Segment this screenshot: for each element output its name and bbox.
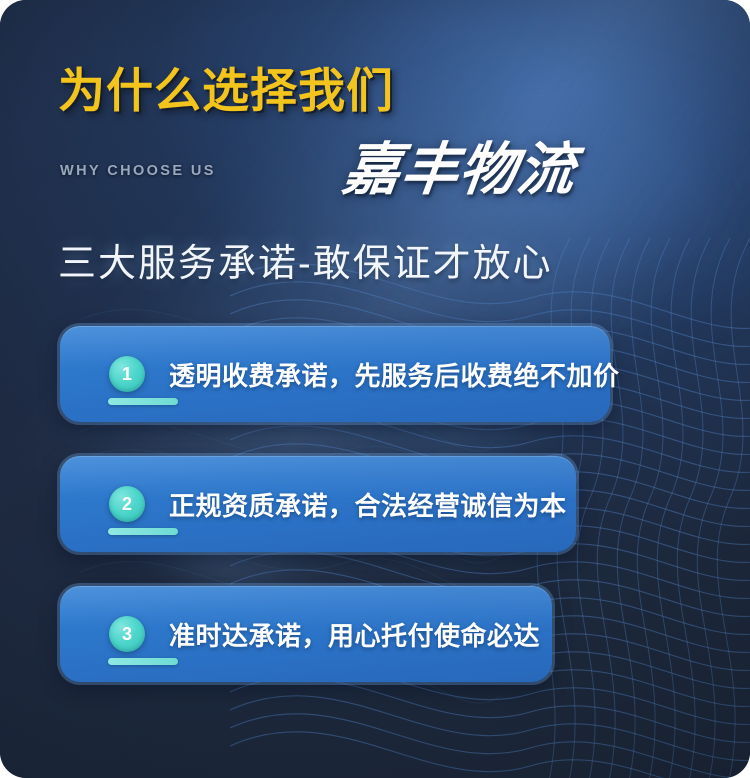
promise-number-badge: 2 (109, 486, 145, 522)
page-title: 为什么选择我们 (58, 52, 394, 121)
promise-card[interactable]: 2 正规资质承诺，合法经营诚信为本 (60, 456, 576, 552)
underline-accent (108, 658, 178, 665)
banner-content: 为什么选择我们 WHY CHOOSE US 嘉丰物流 三大服务承诺-敢保证才放心… (0, 0, 750, 778)
promo-banner: 为什么选择我们 WHY CHOOSE US 嘉丰物流 三大服务承诺-敢保证才放心… (0, 0, 750, 778)
promise-text: 准时达承诺，用心托付使命必达 (169, 616, 540, 653)
promise-number-badge: 1 (109, 356, 145, 392)
promise-number-badge: 3 (109, 616, 145, 652)
underline-accent (108, 528, 178, 535)
promise-card-wrapper: 3 准时达承诺，用心托付使命必达 (0, 586, 750, 689)
promise-card-wrapper: 2 正规资质承诺，合法经营诚信为本 (0, 456, 750, 559)
page-subtitle-english: WHY CHOOSE US (60, 163, 216, 179)
promise-card-wrapper: 1 透明收费承诺，先服务后收费绝不加价 (0, 326, 750, 429)
promise-card[interactable]: 3 准时达承诺，用心托付使命必达 (60, 586, 552, 682)
brand-name: 嘉丰物流 (339, 124, 581, 206)
promise-text: 正规资质承诺，合法经营诚信为本 (169, 486, 567, 523)
promise-text: 透明收费承诺，先服务后收费绝不加价 (169, 356, 620, 393)
underline-accent (108, 398, 178, 405)
section-heading: 三大服务承诺-敢保证才放心 (58, 232, 553, 287)
promise-card[interactable]: 1 透明收费承诺，先服务后收费绝不加价 (60, 326, 610, 422)
promise-card-list: 1 透明收费承诺，先服务后收费绝不加价 2 正规资质承诺，合法经营诚信为本 3 … (0, 326, 750, 716)
